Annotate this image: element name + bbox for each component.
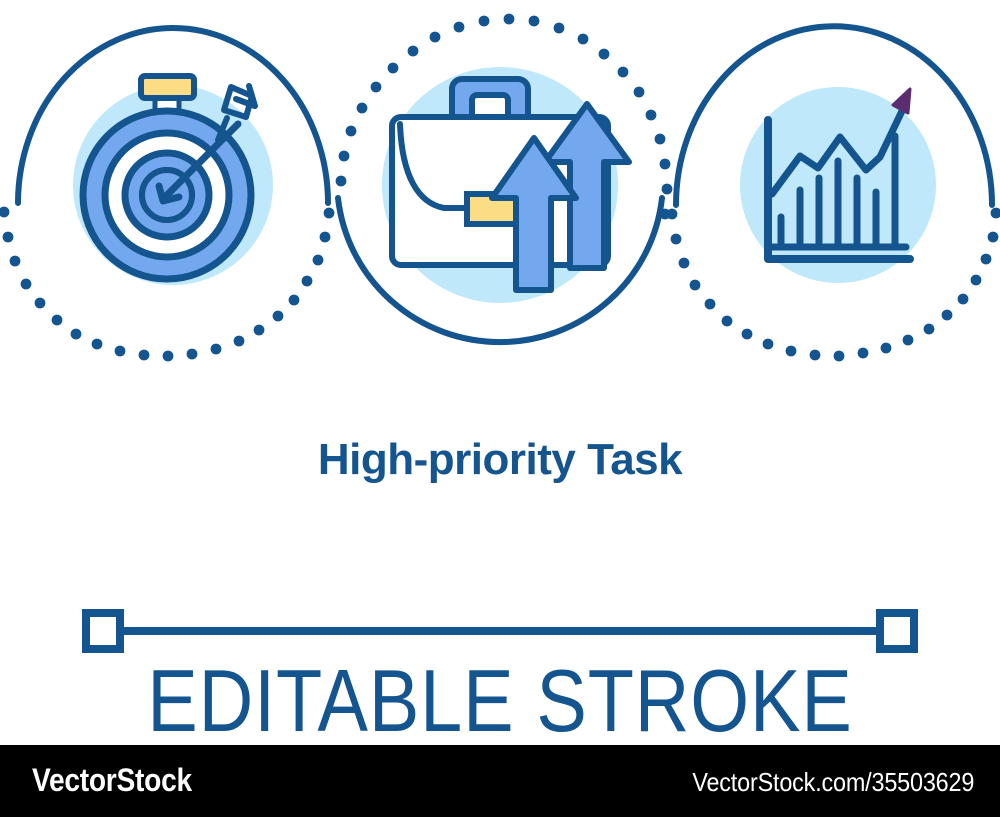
watermark-footer-bar: VectorStock VectorStock.com/35503629 (0, 745, 1000, 817)
page-title: High-priority Task (0, 432, 1000, 488)
stroke-handle-left[interactable] (86, 613, 120, 649)
footer-url-label: VectorStock.com/35503629 (692, 767, 974, 798)
illustration-canvas: High-priority Task EDITABLE STROKE Vecto… (0, 0, 1000, 817)
stroke-handle-right[interactable] (880, 613, 914, 649)
footer-brand-label: VectorStock (32, 762, 192, 799)
stopwatch-crown-button (141, 76, 194, 98)
concept-illustration (0, 0, 1000, 400)
editable-stroke-widget[interactable] (80, 607, 920, 655)
editable-stroke-caption: EDITABLE STROKE (70, 655, 930, 747)
